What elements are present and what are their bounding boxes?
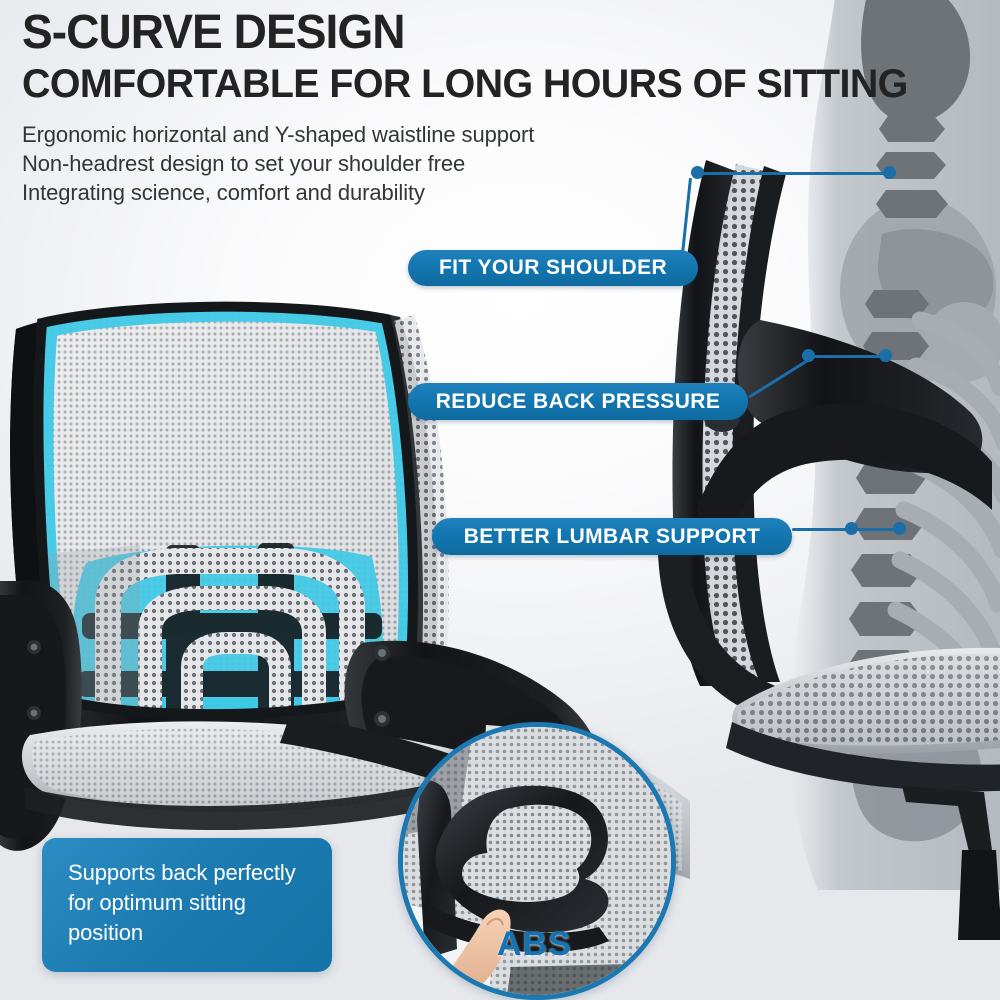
badge-fit-your-shoulder[interactable]: FIT YOUR SHOULDER xyxy=(408,250,698,286)
badge-better-lumbar-support[interactable]: BETTER LUMBAR SUPPORT xyxy=(432,518,792,555)
product-infographic: ABS FIT YOUR SHOULDER REDUCE BACK PRESSU… xyxy=(0,0,1000,1000)
callout-line-1: Supports back perfectly xyxy=(68,858,310,888)
abs-material-label: ABS xyxy=(497,925,572,964)
badge-reduce-back-pressure[interactable]: REDUCE BACK PRESSURE xyxy=(408,383,748,420)
callout-supports-back: Supports back perfectly for optimum sitt… xyxy=(42,838,332,972)
callout-line-2: for optimum sitting xyxy=(68,888,310,918)
callout-line-3: position xyxy=(68,918,310,948)
